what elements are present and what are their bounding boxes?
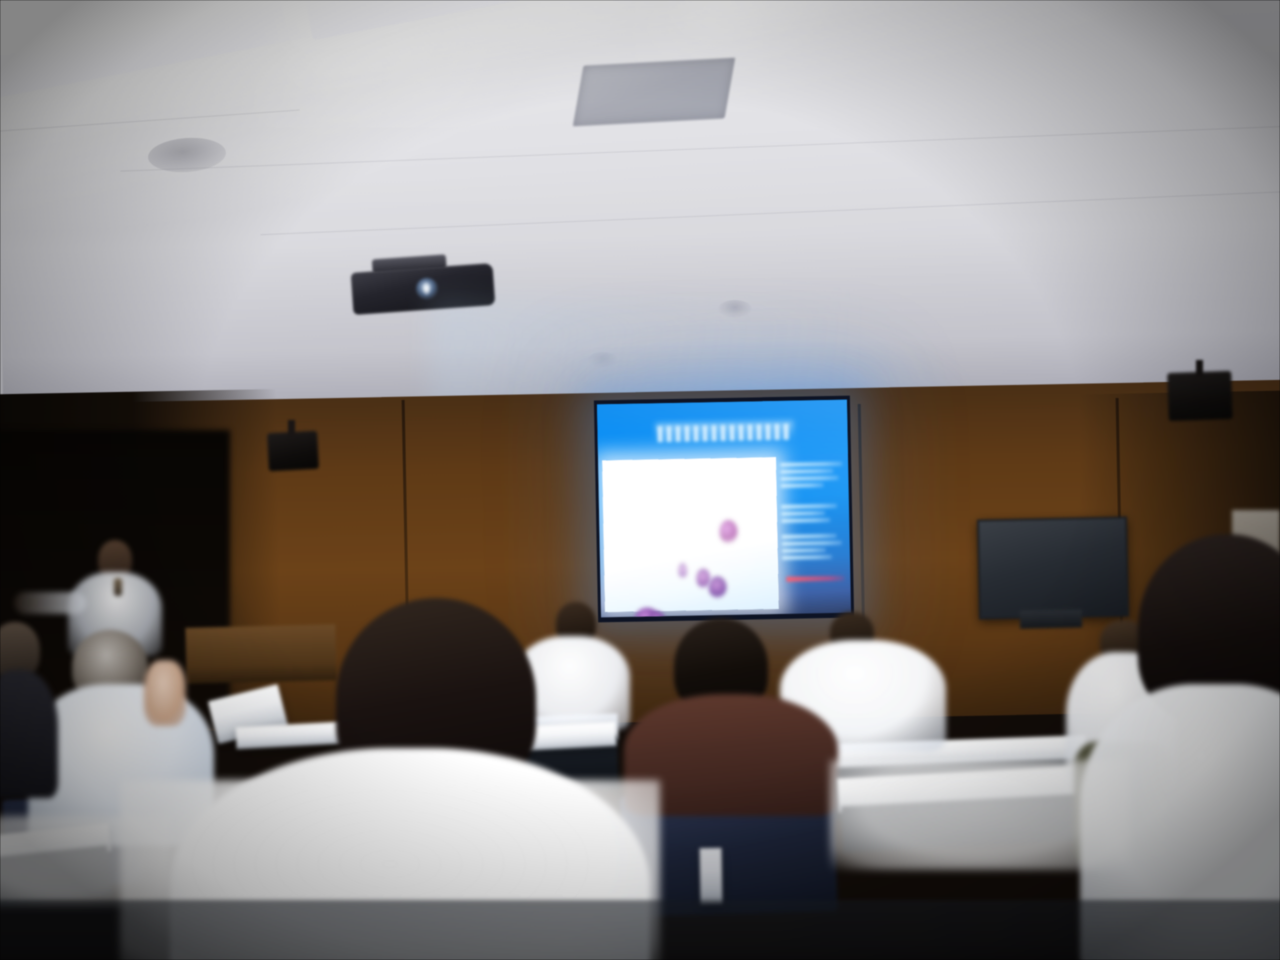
projector-lens-glint (422, 281, 432, 296)
desk-strap-center (700, 848, 723, 904)
attendee-center-dark-top (626, 618, 836, 818)
attendee-body (624, 694, 838, 816)
slide-title-band (597, 400, 848, 459)
slide-specimen-blob (708, 576, 726, 598)
wall-speaker-left-bracket (288, 420, 295, 438)
slide-content-panel (602, 457, 779, 612)
attendee-left-grey-hair (28, 628, 228, 848)
wall-speaker-right (1167, 371, 1233, 421)
hvac-vent (573, 58, 735, 127)
presenter-microphone-icon (114, 578, 122, 596)
lecture-hall-photo: [blurred heading] [blurred red text] Lec… (0, 0, 1280, 960)
slide-specimen-blob (719, 520, 737, 544)
slide-text-block-3 (782, 534, 843, 563)
attendee-foreground-right (1120, 534, 1280, 960)
slide-text-block-2 (781, 504, 837, 526)
ceiling-speaker-icon (718, 300, 752, 318)
wall-mounted-display (977, 516, 1129, 619)
slide-title-text (657, 424, 789, 443)
projection-screen (594, 396, 854, 623)
attendee-body (0, 670, 58, 798)
wall-speaker-right-bracket (1196, 360, 1203, 376)
attendee-far-left (0, 618, 56, 798)
floor-shadow (0, 900, 1280, 960)
slide-specimen-blob (649, 611, 665, 617)
attendee-raised-hand (144, 660, 186, 726)
ceiling-projector (350, 257, 495, 321)
presenter-arm (14, 592, 86, 614)
slide-footer-text (786, 576, 844, 582)
slide-specimen-blob (678, 563, 687, 579)
slide-text-block-1 (780, 462, 843, 491)
projected-slide (597, 400, 851, 618)
